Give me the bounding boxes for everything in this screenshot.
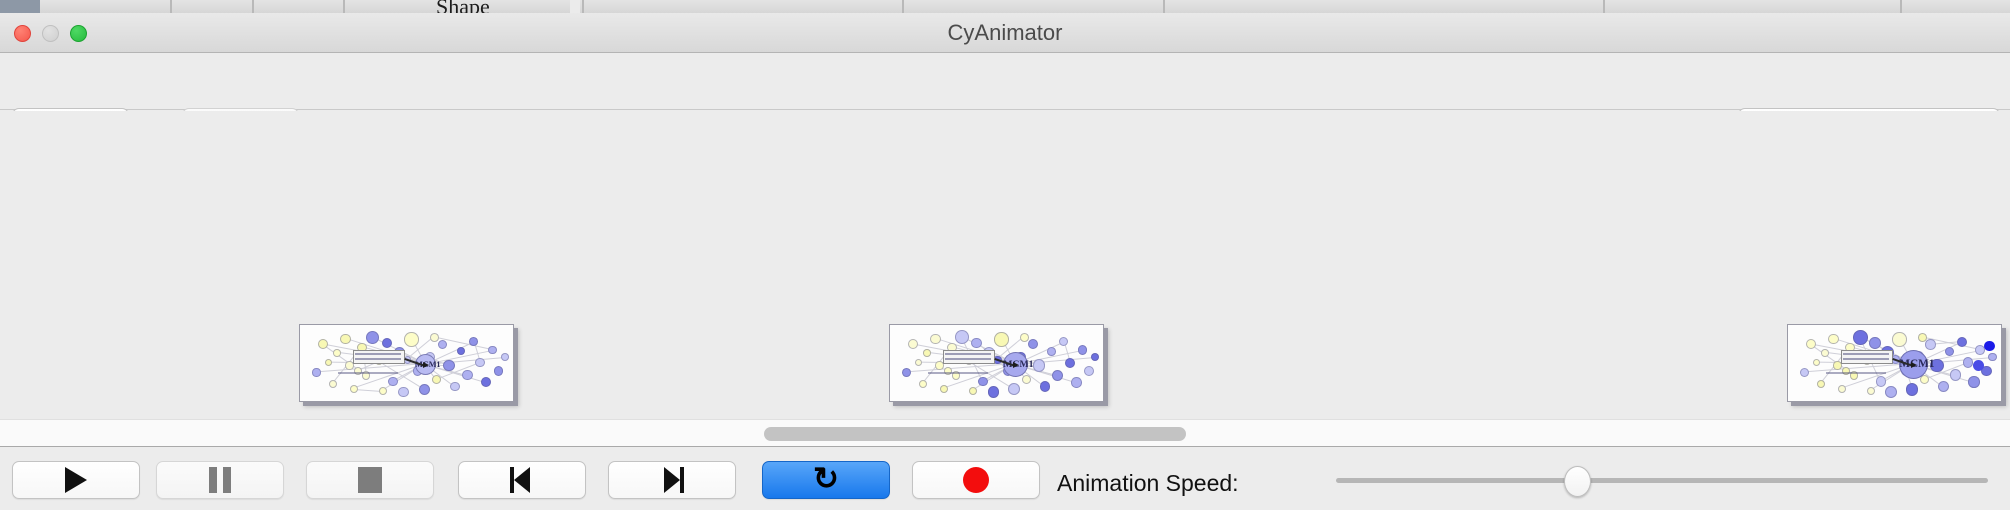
record-button[interactable] xyxy=(912,461,1040,499)
graph-node xyxy=(1973,360,1984,371)
frame-toolbar: + Clear All Frames xyxy=(0,54,2010,110)
graph-node xyxy=(340,334,350,344)
graph-node xyxy=(1806,339,1816,349)
minimize-button[interactable] xyxy=(42,25,59,42)
graph-node xyxy=(475,358,484,367)
graph-node xyxy=(419,384,430,395)
graph-node xyxy=(333,349,341,357)
graph-node xyxy=(1020,333,1029,342)
slider-track[interactable] xyxy=(1336,478,1988,483)
keyframe-network-graph: MCM1 xyxy=(300,325,513,401)
graph-node xyxy=(902,368,911,377)
graph-caption-text xyxy=(1826,372,1886,374)
graph-node xyxy=(1828,334,1838,344)
graph-node xyxy=(1821,349,1829,357)
graph-annotation-text xyxy=(945,353,991,355)
graph-node xyxy=(1945,347,1954,356)
keyframe-network-graph: MCM1 xyxy=(1788,325,2001,401)
graph-node xyxy=(1084,366,1094,376)
graph-node xyxy=(1033,359,1046,372)
graph-annotation-box xyxy=(1841,350,1894,364)
graph-node xyxy=(1876,376,1887,387)
keyframe-track[interactable]: MCM1MCM1MCM1 xyxy=(0,111,2010,305)
graph-annotation-text xyxy=(355,358,401,360)
graph-node xyxy=(978,377,988,387)
graph-annotation-text xyxy=(1843,353,1889,355)
animation-speed-slider[interactable] xyxy=(1336,461,1988,499)
graph-node xyxy=(1813,359,1820,366)
keyframe-thumbnail[interactable]: MCM1 xyxy=(1787,324,2002,402)
graph-node xyxy=(1988,353,1997,362)
graph-node xyxy=(481,377,491,387)
graph-node xyxy=(312,368,320,376)
graph-node xyxy=(1885,386,1897,398)
graph-node xyxy=(1906,383,1919,396)
close-button[interactable] xyxy=(14,25,31,42)
graph-node xyxy=(457,347,465,355)
graph-annotation-arrowhead xyxy=(423,362,429,368)
graph-node xyxy=(1071,377,1082,388)
graph-caption-text xyxy=(928,372,988,374)
cyanimator-window: Shape CyAnimator + Clear All Fr xyxy=(0,0,2010,510)
graph-node xyxy=(908,339,918,349)
play-icon xyxy=(65,467,87,493)
skip-next-icon xyxy=(659,467,685,493)
pause-button[interactable] xyxy=(156,461,284,499)
graph-node xyxy=(1892,332,1906,346)
graph-node xyxy=(329,380,337,388)
graph-node xyxy=(1869,337,1881,349)
graph-node xyxy=(1925,339,1936,350)
background-window-text: Shape xyxy=(436,0,490,13)
timeline-scrollbar-thumb[interactable] xyxy=(764,427,1186,441)
graph-node xyxy=(930,334,940,344)
graph-node xyxy=(443,360,455,372)
graph-node xyxy=(969,387,977,395)
graph-node xyxy=(1028,339,1038,349)
graph-node xyxy=(430,333,439,342)
graph-node xyxy=(1968,376,1979,387)
record-icon xyxy=(963,467,989,493)
keyframe-thumbnail[interactable]: MCM1 xyxy=(889,324,1104,402)
graph-node xyxy=(1059,337,1069,347)
slider-thumb[interactable] xyxy=(1564,466,1591,497)
graph-caption-text xyxy=(338,372,398,374)
graph-node xyxy=(1078,345,1087,354)
graph-node xyxy=(1963,357,1974,368)
graph-node xyxy=(1938,381,1949,392)
keyframe-thumbnail[interactable]: MCM1 xyxy=(299,324,514,402)
graph-node xyxy=(1065,358,1075,368)
graph-node xyxy=(450,382,460,392)
graph-annotation-text xyxy=(1843,358,1889,360)
play-button[interactable] xyxy=(12,461,140,499)
graph-node xyxy=(1047,347,1056,356)
graph-node xyxy=(350,385,358,393)
keyframe-network-graph: MCM1 xyxy=(890,325,1103,401)
graph-node xyxy=(382,338,392,348)
graph-annotation-text xyxy=(355,353,401,355)
graph-node xyxy=(1950,369,1962,381)
timeline-scrollbar[interactable] xyxy=(0,419,2010,447)
graph-node xyxy=(923,349,931,357)
graph-node xyxy=(1853,330,1868,345)
graph-node xyxy=(462,370,472,380)
zoom-button[interactable] xyxy=(70,25,87,42)
graph-node xyxy=(994,332,1008,346)
graph-node xyxy=(915,359,922,366)
graph-node xyxy=(469,337,478,346)
stop-icon xyxy=(358,467,382,493)
graph-node xyxy=(1867,387,1875,395)
graph-node xyxy=(404,332,418,346)
loop-icon: ↻ xyxy=(813,463,839,494)
graph-node xyxy=(1918,333,1927,342)
window-traffic-lights xyxy=(14,25,87,42)
graph-node xyxy=(1040,381,1050,391)
graph-node xyxy=(488,346,496,354)
graph-node xyxy=(1800,368,1810,378)
graph-node xyxy=(955,330,969,344)
background-window-strip: Shape xyxy=(0,0,2010,13)
pause-icon xyxy=(209,467,231,493)
graph-annotation-arrowhead xyxy=(1013,362,1019,368)
graph-node xyxy=(318,339,328,349)
graph-node xyxy=(1957,337,1967,347)
loop-button[interactable]: ↻ xyxy=(762,461,890,499)
stop-button[interactable] xyxy=(306,461,434,499)
skip-previous-icon xyxy=(509,467,535,493)
graph-node xyxy=(494,366,503,375)
window-titlebar: CyAnimator xyxy=(0,13,2010,53)
graph-node xyxy=(325,359,332,366)
graph-node xyxy=(1838,385,1846,393)
next-frame-button[interactable] xyxy=(608,461,736,499)
graph-node xyxy=(366,331,379,344)
graph-annotation-box xyxy=(353,350,406,364)
graph-node xyxy=(432,375,441,384)
graph-node xyxy=(1022,375,1031,384)
graph-node xyxy=(501,353,509,361)
graph-annotation-arrowhead xyxy=(1911,362,1917,368)
window-title: CyAnimator xyxy=(0,13,2010,53)
graph-node xyxy=(1052,370,1063,381)
graph-annotation-text xyxy=(945,358,991,360)
graph-node xyxy=(1091,353,1099,361)
graph-node xyxy=(379,387,387,395)
timeline-panel[interactable]: MCM1MCM1MCM1 12131415161718 Seconds xyxy=(0,111,2010,418)
graph-node xyxy=(919,380,927,388)
graph-node xyxy=(1008,383,1020,395)
graph-annotation-box xyxy=(943,350,996,364)
graph-node xyxy=(438,340,447,349)
graph-node xyxy=(1817,380,1825,388)
graph-node xyxy=(388,377,397,386)
graph-node xyxy=(940,385,948,393)
graph-node xyxy=(988,386,999,397)
animation-speed-label: Animation Speed: xyxy=(1057,470,1239,497)
graph-node xyxy=(1984,341,1994,351)
previous-frame-button[interactable] xyxy=(458,461,586,499)
graph-node xyxy=(398,387,408,397)
playback-toolbar: ↻ Animation Speed: xyxy=(0,448,2010,510)
